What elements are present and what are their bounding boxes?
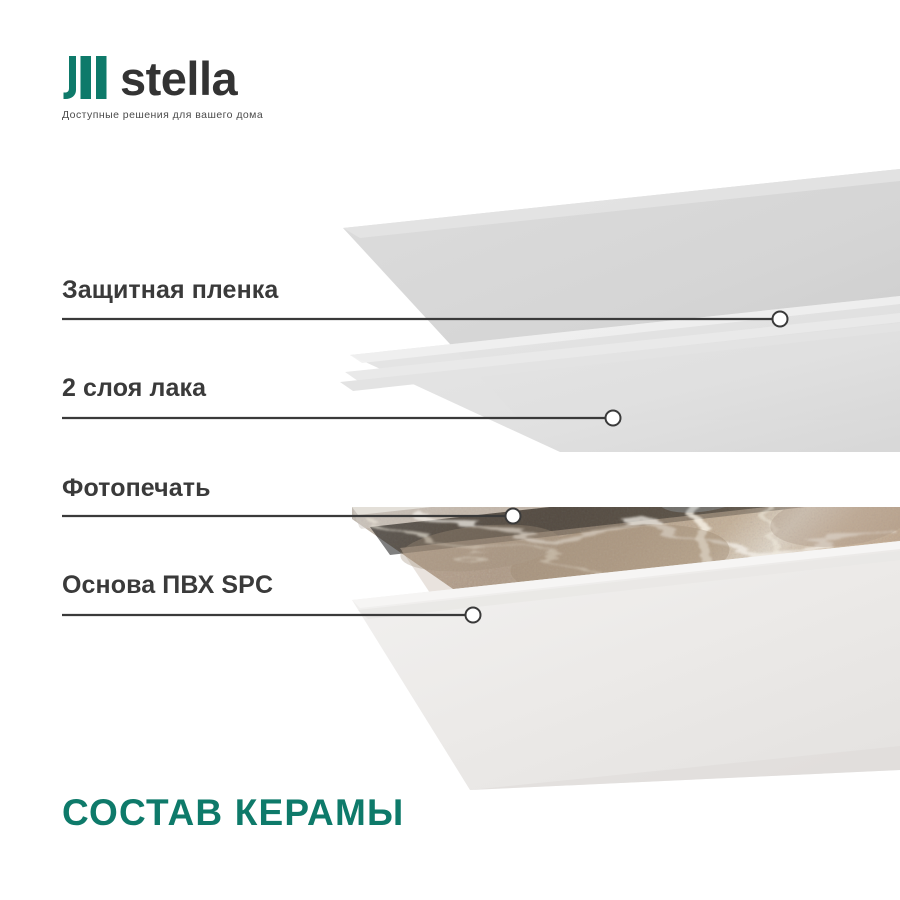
layer-label-lacquer: 2 слоя лака bbox=[62, 374, 206, 403]
brand-name: stella bbox=[120, 56, 237, 102]
page-title: СОСТАВ КЕРАМЫ bbox=[62, 792, 404, 834]
layer-label-photoprint: Фотопечать bbox=[62, 474, 211, 503]
layer-label-spc-base: Основа ПВХ SPC bbox=[62, 571, 273, 600]
brand-tagline: Доступные решения для вашего дома bbox=[62, 109, 263, 121]
infographic-canvas: stella Доступные решения для вашего дома… bbox=[0, 0, 900, 900]
layer-stack-diagram bbox=[0, 0, 900, 900]
stella-logo-mark-icon bbox=[60, 52, 110, 102]
brand-logo: stella Доступные решения для вашего дома bbox=[60, 48, 263, 121]
layer-label-protective-film: Защитная пленка bbox=[62, 276, 278, 305]
